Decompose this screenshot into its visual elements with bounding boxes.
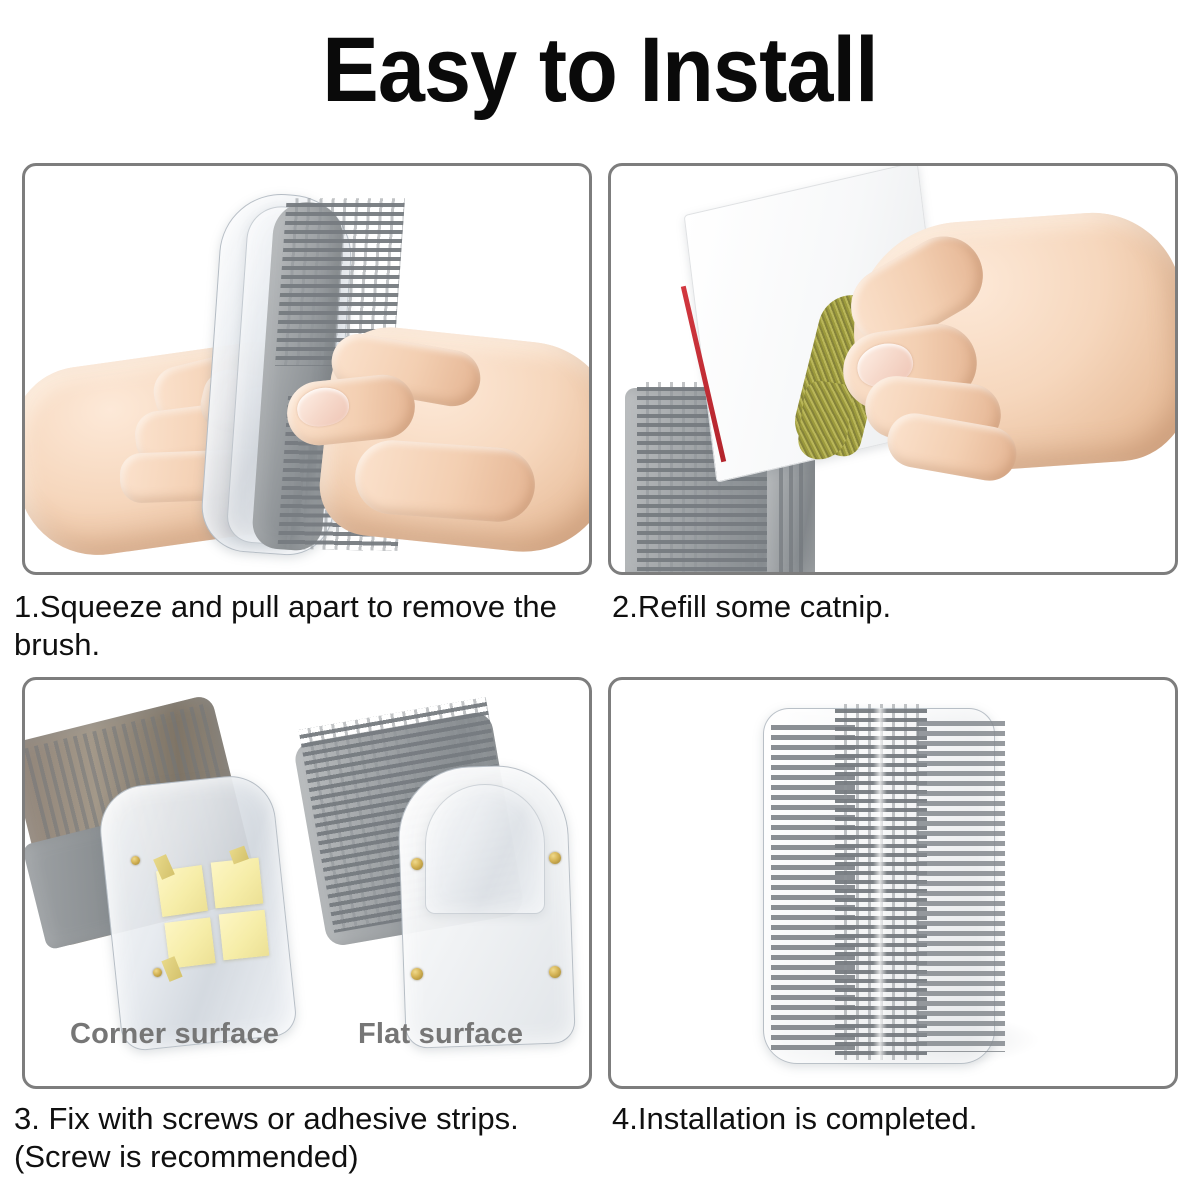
flat-cover-inner-ridge <box>425 784 545 914</box>
flat-cover-screw-top-right <box>549 852 561 864</box>
right-lower-fingers <box>353 438 538 524</box>
corner-cover-screw-left <box>131 856 140 865</box>
infographic-page: Easy to Install <box>0 0 1200 1200</box>
step-panel-4 <box>608 677 1178 1089</box>
label-flat-surface: Flat surface <box>358 1018 523 1051</box>
scene-mounting-options: Corner surface Flat surface <box>25 680 589 1086</box>
adhesive-pad-bottom-right <box>219 910 270 961</box>
scene-installed-groomer <box>611 680 1175 1086</box>
step-caption-2: 2.Refill some catnip. <box>612 588 1192 626</box>
groomer-bristles-right-wing <box>917 716 1005 1052</box>
step-caption-4: 4.Installation is completed. <box>612 1100 1192 1138</box>
adhesive-pad-top-right <box>211 858 264 909</box>
page-title: Easy to Install <box>48 20 1152 120</box>
scene-refill-catnip <box>611 166 1175 572</box>
step-caption-3: 3. Fix with screws or adhesive strips. (… <box>14 1100 604 1176</box>
flat-cover-screw-bottom-right <box>549 966 561 978</box>
label-corner-surface: Corner surface <box>70 1018 279 1051</box>
corner-cover-screw-bottom <box>153 968 162 977</box>
groomer-side-slots <box>773 452 809 575</box>
groomer-center-ridge <box>873 708 887 1060</box>
flat-cover-screw-top-left <box>411 858 423 870</box>
step-panel-3: Corner surface Flat surface <box>22 677 592 1089</box>
flat-cover-screw-bottom-left <box>411 968 423 980</box>
step-panel-2 <box>608 163 1178 575</box>
scene-squeeze-brush <box>25 166 589 572</box>
step-caption-1: 1.Squeeze and pull apart to remove the b… <box>14 588 604 664</box>
step-panel-1 <box>22 163 592 575</box>
